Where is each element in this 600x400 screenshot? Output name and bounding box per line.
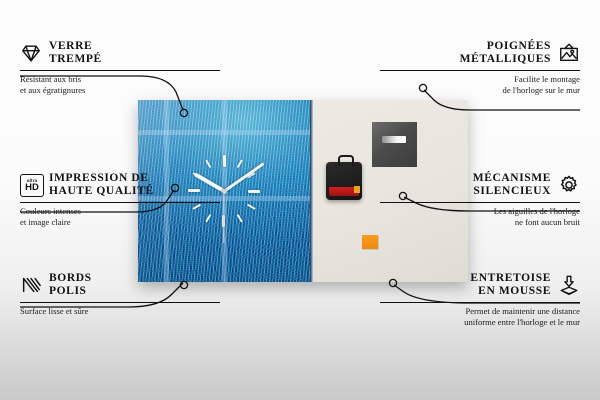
feature-title: IMPRESSION DE HAUTE QUALITÉ [49, 172, 154, 198]
divider [380, 202, 580, 203]
feature-title: MÉCANISME SILENCIEUX [473, 172, 551, 198]
feature-title: ENTRETOISE EN MOUSSE [470, 272, 551, 298]
battery [329, 187, 359, 196]
gear-icon [558, 174, 580, 196]
mechanism-hook [338, 155, 354, 166]
feature-title: POIGNÉES MÉTALLIQUES [460, 40, 551, 66]
metal-hanger-plate [372, 122, 417, 167]
polished-edges-icon [20, 274, 42, 296]
foam-spacer [362, 235, 378, 249]
feature-description: Les aiguilles de l'horloge ne font aucun… [380, 206, 580, 227]
feature-description: Surface lisse et sûre [20, 306, 220, 317]
foam-spacer-icon [558, 274, 580, 296]
battery-terminal [354, 186, 360, 193]
picture-hanger-icon [558, 42, 580, 64]
feature-header: BORDS POLIS [20, 272, 220, 298]
hd-big-label: HD [25, 183, 39, 192]
divider [380, 70, 580, 71]
feature-entretoise-en-mousse[interactable]: ENTRETOISE EN MOUSSE Permet de maintenir… [380, 272, 580, 327]
feature-mecanisme-silencieux[interactable]: MÉCANISME SILENCIEUX Les aiguilles de l'… [380, 172, 580, 227]
feature-header: MÉCANISME SILENCIEUX [380, 172, 580, 198]
clock-mechanism [326, 162, 362, 200]
divider [380, 302, 580, 303]
feature-verre-trempe[interactable]: VERRE TREMPÉ Résistant aux bris et aux é… [20, 40, 220, 95]
feature-header: POIGNÉES MÉTALLIQUES [380, 40, 580, 66]
divider [20, 70, 220, 71]
feature-description: Résistant aux bris et aux égratignures [20, 74, 220, 95]
feature-header: ultra HD IMPRESSION DE HAUTE QUALITÉ [20, 172, 220, 198]
feature-impression-haute-qualite[interactable]: ultra HD IMPRESSION DE HAUTE QUALITÉ Cou… [20, 172, 220, 227]
feature-header: ENTRETOISE EN MOUSSE [380, 272, 580, 298]
feature-description: Permet de maintenir une distance uniform… [380, 306, 580, 327]
divider [20, 202, 220, 203]
feature-bords-polis[interactable]: BORDS POLIS Surface lisse et sûre [20, 272, 220, 317]
infographic-canvas: VERRE TREMPÉ Résistant aux bris et aux é… [0, 0, 600, 400]
feature-title: VERRE TREMPÉ [49, 40, 102, 66]
feature-description: Facilite le montage de l'horloge sur le … [380, 74, 580, 95]
feature-title: BORDS POLIS [49, 272, 92, 298]
panel-edge [310, 100, 313, 282]
feature-poignees-metalliques[interactable]: POIGNÉES MÉTALLIQUES Facilite le montage… [380, 40, 580, 95]
clock-center-pin [222, 189, 227, 194]
feature-description: Couleurs intenses et image claire [20, 206, 220, 227]
ultra-hd-icon: ultra HD [20, 174, 42, 196]
feature-header: VERRE TREMPÉ [20, 40, 220, 66]
diamond-icon [20, 42, 42, 64]
hanger-slot [382, 136, 406, 143]
divider [20, 302, 220, 303]
